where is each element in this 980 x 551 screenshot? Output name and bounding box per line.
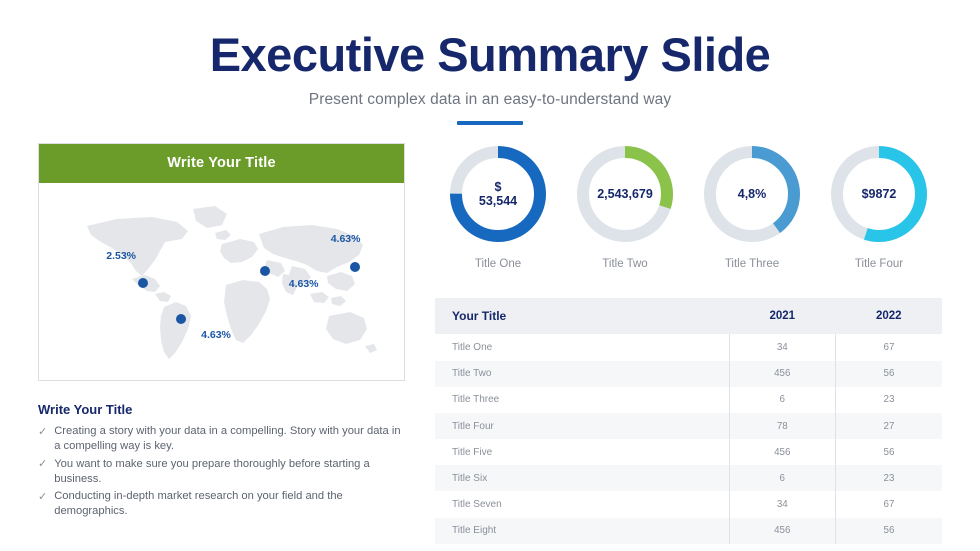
- donut-chart-0: $ 53,544: [447, 143, 549, 245]
- table-cell-2021: 456: [729, 439, 835, 465]
- table-cell-2022: 56: [836, 518, 942, 544]
- map-card: Write Your Title: [38, 143, 405, 381]
- world-map: 2.53% 4.63% 4.63% 4.63%: [39, 183, 404, 380]
- slide-body: Write Your Title: [0, 125, 980, 544]
- check-icon: ✓: [38, 489, 47, 504]
- kpi-donut-row: $ 53,544 Title One 2,543,679 Title Two: [435, 143, 942, 270]
- map-marker-label-north-america: 2.53%: [106, 250, 136, 262]
- kpi-donut-1: 2,543,679 Title Two: [566, 143, 684, 270]
- donut-label-2: Title Three: [693, 258, 811, 270]
- map-card-title: Write Your Title: [39, 144, 404, 183]
- donut-chart-2: 4,8%: [701, 143, 803, 245]
- check-icon: ✓: [38, 457, 47, 472]
- donut-center-value-2: 4,8%: [701, 143, 803, 245]
- table-cell-2022: 23: [836, 465, 942, 491]
- donut-center-value-0: $ 53,544: [447, 143, 549, 245]
- map-marker-label-south-america: 4.63%: [201, 329, 231, 341]
- list-item: ✓ You want to make sure you prepare thor…: [38, 457, 405, 487]
- table-cell-name: Title One: [435, 334, 729, 360]
- donut-center-value-1: 2,543,679: [574, 143, 676, 245]
- table-cell-name: Title Two: [435, 361, 729, 387]
- page-title: Executive Summary Slide: [0, 30, 980, 79]
- slide-header: Executive Summary Slide Present complex …: [0, 0, 980, 125]
- table-cell-name: Title Five: [435, 439, 729, 465]
- table-cell-2021: 6: [729, 387, 835, 413]
- table-cell-name: Title Seven: [435, 491, 729, 517]
- bullets-title: Write Your Title: [38, 402, 405, 417]
- table-cell-2021: 78: [729, 413, 835, 439]
- donut-label-0: Title One: [439, 258, 557, 270]
- table-header-name: Your Title: [435, 298, 729, 334]
- page-subtitle: Present complex data in an easy-to-under…: [0, 91, 980, 109]
- table-cell-name: Title Three: [435, 387, 729, 413]
- bullets-block: Write Your Title ✓ Creating a story with…: [38, 402, 405, 519]
- list-item-text: Conducting in-depth market research on y…: [54, 489, 405, 519]
- table-cell-name: Title Six: [435, 465, 729, 491]
- donut-label-1: Title Two: [566, 258, 684, 270]
- donut-center-value-3: $9872: [828, 143, 930, 245]
- table-cell-2021: 456: [729, 518, 835, 544]
- world-map-graphic: [57, 196, 387, 368]
- table-cell-2021: 34: [729, 334, 835, 360]
- table-row[interactable]: Title Five45656: [435, 439, 942, 465]
- table-header-row: Your Title 2021 2022: [435, 298, 942, 334]
- table-cell-2021: 456: [729, 361, 835, 387]
- map-marker-label-asia: 4.63%: [331, 233, 361, 245]
- table-row[interactable]: Title One3467: [435, 334, 942, 360]
- kpi-donut-2: 4,8% Title Three: [693, 143, 811, 270]
- table-cell-2022: 27: [836, 413, 942, 439]
- data-table: Your Title 2021 2022 Title One3467Title …: [435, 298, 942, 544]
- table-cell-2021: 6: [729, 465, 835, 491]
- map-marker-asia: [350, 262, 360, 272]
- table-cell-2021: 34: [729, 491, 835, 517]
- kpi-donut-3: $9872 Title Four: [820, 143, 938, 270]
- table-row[interactable]: Title Six623: [435, 465, 942, 491]
- donut-chart-1: 2,543,679: [574, 143, 676, 245]
- table-row[interactable]: Title Two45656: [435, 361, 942, 387]
- donut-label-3: Title Four: [820, 258, 938, 270]
- table-row[interactable]: Title Four7827: [435, 413, 942, 439]
- table-cell-2022: 56: [836, 361, 942, 387]
- table-row[interactable]: Title Three623: [435, 387, 942, 413]
- table-header-2022: 2022: [836, 298, 942, 334]
- table-cell-name: Title Eight: [435, 518, 729, 544]
- table-cell-2022: 67: [836, 491, 942, 517]
- list-item-text: Creating a story with your data in a com…: [54, 424, 405, 454]
- table-body: Title One3467Title Two45656Title Three62…: [435, 334, 942, 544]
- donut-chart-3: $9872: [828, 143, 930, 245]
- list-item: ✓ Creating a story with your data in a c…: [38, 424, 405, 454]
- table-cell-2022: 67: [836, 334, 942, 360]
- table-cell-name: Title Four: [435, 413, 729, 439]
- table-header-2021: 2021: [729, 298, 835, 334]
- table-row[interactable]: Title Eight45656: [435, 518, 942, 544]
- left-column: Write Your Title: [38, 143, 405, 544]
- map-marker-label-europe: 4.63%: [289, 278, 319, 290]
- table-row[interactable]: Title Seven3467: [435, 491, 942, 517]
- list-item: ✓ Conducting in-depth market research on…: [38, 489, 405, 519]
- map-marker-south-america: [176, 314, 186, 324]
- list-item-text: You want to make sure you prepare thorou…: [54, 457, 405, 487]
- table-cell-2022: 23: [836, 387, 942, 413]
- right-column: $ 53,544 Title One 2,543,679 Title Two: [435, 143, 942, 544]
- kpi-donut-0: $ 53,544 Title One: [439, 143, 557, 270]
- check-icon: ✓: [38, 424, 47, 439]
- map-marker-north-america: [138, 278, 148, 288]
- table-cell-2022: 56: [836, 439, 942, 465]
- map-marker-europe: [260, 266, 270, 276]
